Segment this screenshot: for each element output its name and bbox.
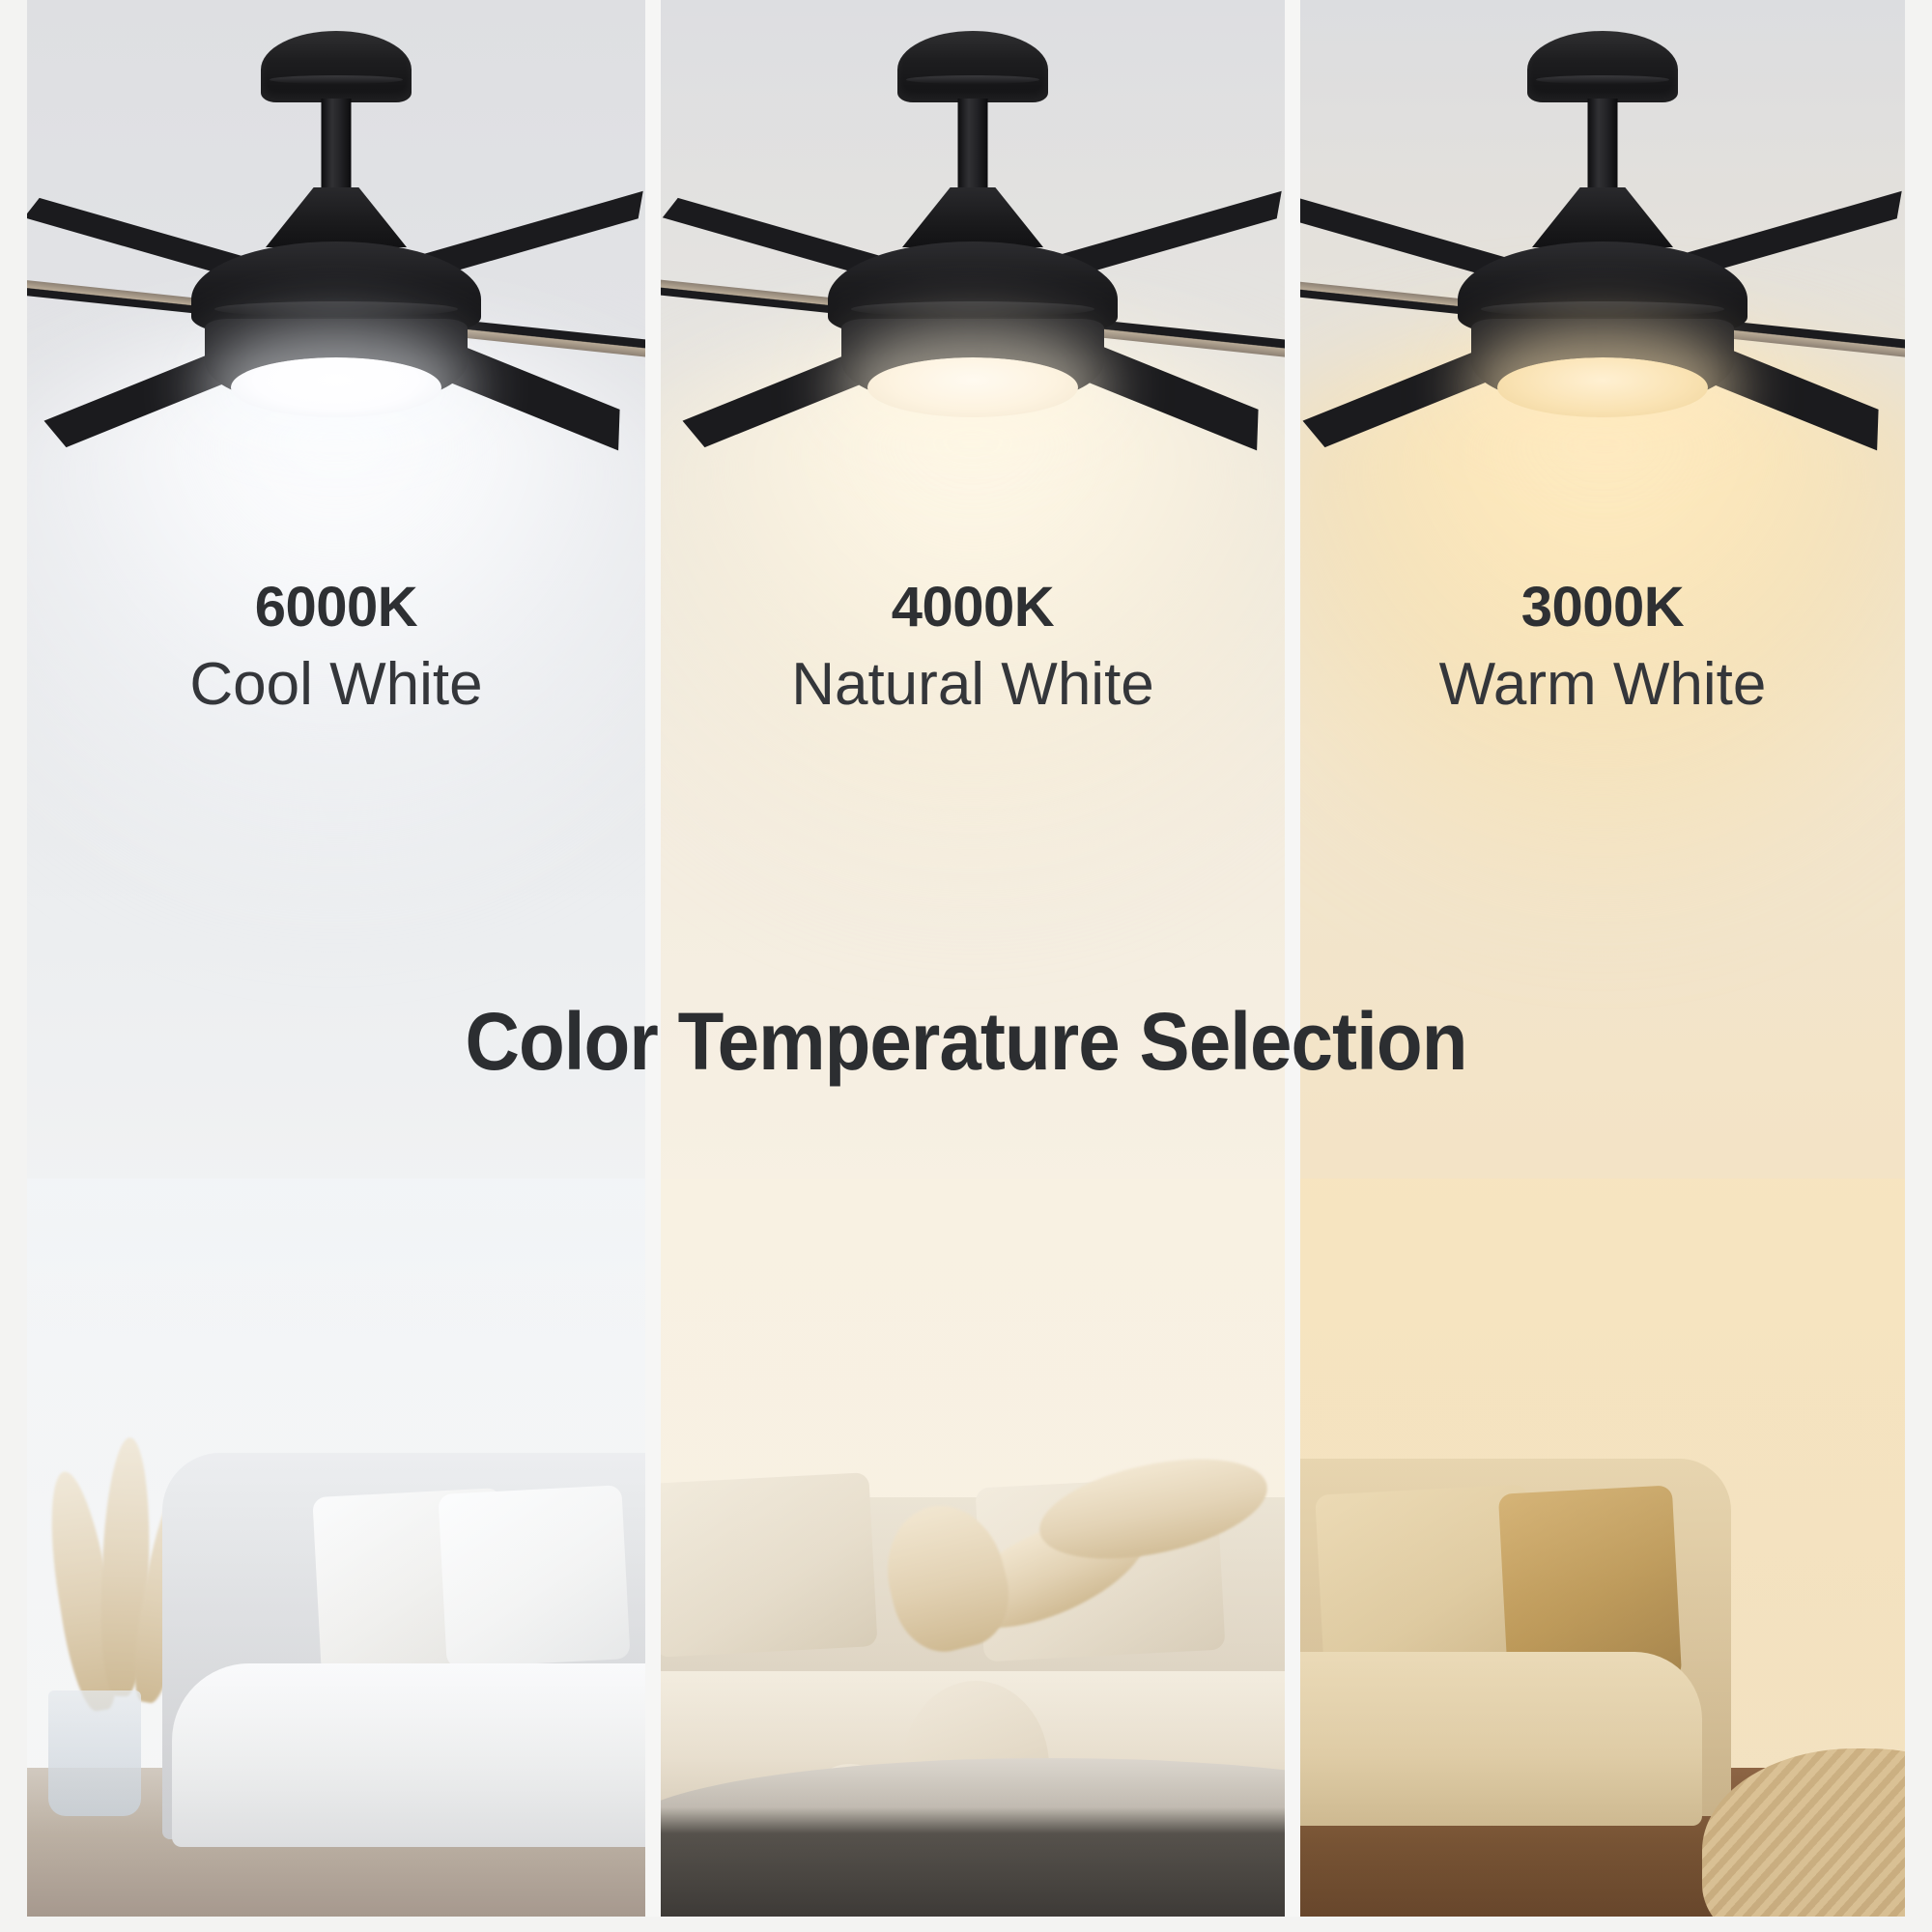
led-light-diffuser-warm — [1497, 357, 1708, 417]
led-light-diffuser-natural — [867, 357, 1078, 417]
color-temperature-name-natural: Natural White — [661, 653, 1285, 716]
fan-downrod — [1588, 99, 1618, 191]
fan-downrod — [322, 99, 352, 191]
room-scene-cool — [27, 1179, 645, 1932]
ceiling-fan-warm — [1300, 17, 1905, 433]
label-group-cool: 6000K Cool White — [27, 580, 645, 716]
panel-divider — [645, 0, 661, 1932]
fan-downrod — [958, 99, 988, 191]
fan-yoke — [266, 187, 407, 247]
color-temperature-name-warm: Warm White — [1300, 653, 1905, 716]
label-group-natural: 4000K Natural White — [661, 580, 1285, 716]
throw-pillow — [438, 1485, 630, 1668]
sofa-seat-cushion — [1300, 1652, 1702, 1826]
room-scene-natural — [661, 1179, 1285, 1932]
led-light-diffuser-cool — [231, 357, 441, 417]
page-margin-bottom — [0, 1917, 1932, 1932]
color-temperature-comparison-graphic: 6000K Cool White — [0, 0, 1932, 1932]
panel-warm-white: 3000K Warm White — [1300, 0, 1905, 1932]
room-scene-warm — [1300, 1179, 1905, 1932]
fan-ceiling-mount — [1527, 31, 1678, 102]
ceiling-fan-cool — [27, 17, 645, 433]
throw-pillow — [661, 1472, 878, 1658]
glass-vase — [48, 1690, 141, 1816]
kelvin-value-cool: 6000K — [27, 580, 645, 636]
fan-ceiling-mount — [261, 31, 412, 102]
ceiling-fan-natural — [664, 17, 1282, 433]
panel-natural-white: 4000K Natural White — [661, 0, 1285, 1932]
panel-cool-white: 6000K Cool White — [27, 0, 645, 1932]
label-group-warm: 3000K Warm White — [1300, 580, 1905, 716]
page-margin-left — [0, 0, 27, 1932]
fan-yoke — [902, 187, 1043, 247]
fan-ceiling-mount — [897, 31, 1048, 102]
fan-yoke — [1532, 187, 1673, 247]
kelvin-value-natural: 4000K — [661, 580, 1285, 636]
color-temperature-name-cool: Cool White — [27, 653, 645, 716]
panel-divider — [1285, 0, 1300, 1932]
headline: Color Temperature Selection — [68, 995, 1864, 1089]
sofa-seat-cushion — [172, 1663, 645, 1847]
marble-coffee-table — [661, 1758, 1285, 1922]
page-margin-right — [1905, 0, 1932, 1932]
kelvin-value-warm: 3000K — [1300, 580, 1905, 636]
